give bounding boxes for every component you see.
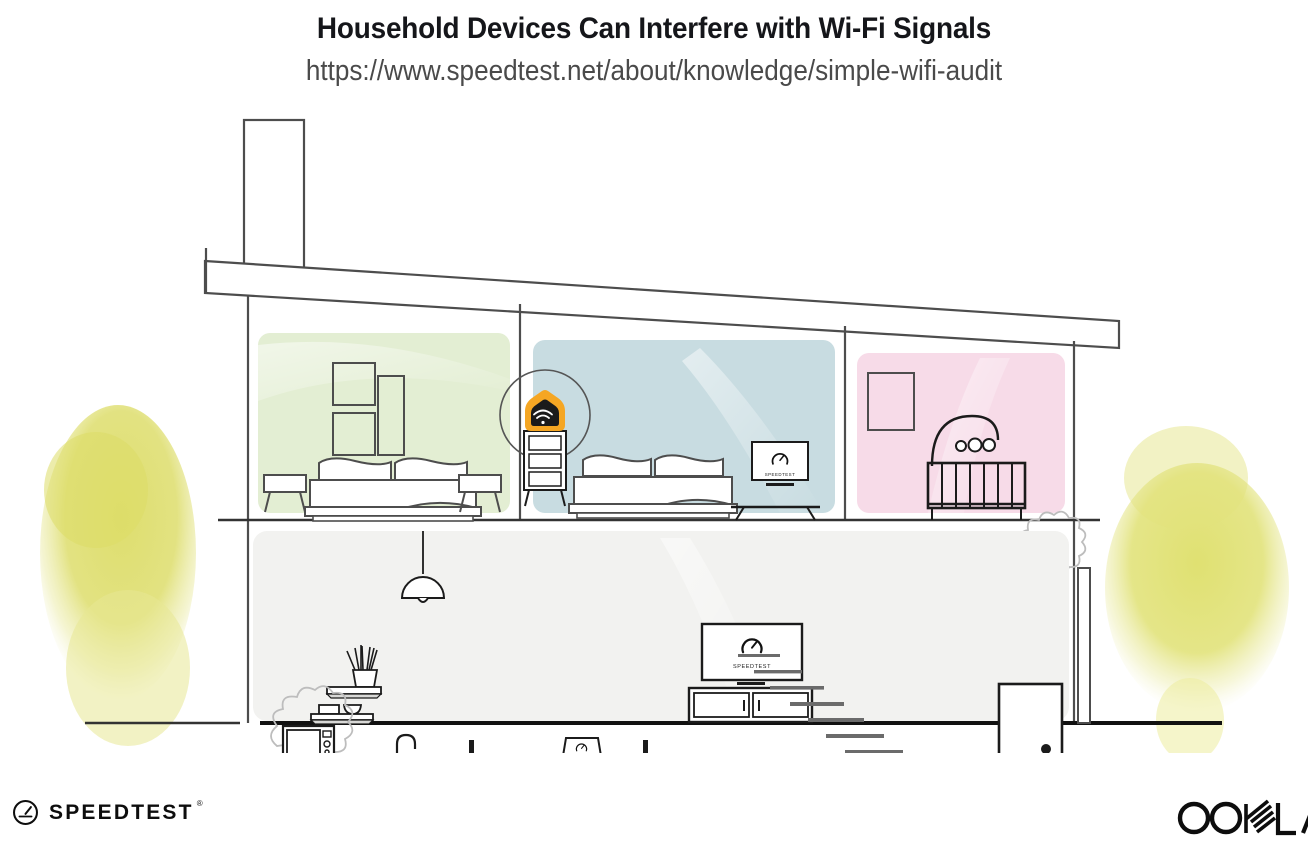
footer: SPEEDTEST ® ® [0, 785, 1308, 861]
tv-screen-label: SPEEDTEST [733, 664, 771, 670]
house-illustration: SPEEDTEST [0, 108, 1308, 753]
speedtest-wordmark: SPEEDTEST ® [49, 801, 194, 825]
speedtest-gauge-icon [12, 799, 39, 826]
shelf-board-lower [311, 714, 373, 724]
sink-faucet [397, 735, 415, 753]
header: Household Devices Can Interfere with Wi-… [0, 0, 1308, 88]
speedtest-logo: SPEEDTEST ® [12, 799, 194, 826]
speedtest-trademark: ® [197, 799, 203, 808]
chair-left [469, 740, 505, 753]
room-bedroom-left [258, 333, 510, 521]
ookla-wordmark-icon: ® [1172, 795, 1308, 841]
chimney [244, 120, 304, 274]
ookla-logo: ® [1172, 795, 1308, 846]
source-url: https://www.speedtest.net/about/knowledg… [65, 54, 1242, 89]
page-title: Household Devices Can Interfere with Wi-… [46, 10, 1262, 48]
microwave [283, 726, 334, 753]
laptop [552, 738, 612, 753]
chair-right [612, 740, 648, 753]
room-bedroom-middle: SPEEDTEST [500, 340, 835, 520]
monitor: SPEEDTEST [752, 442, 808, 486]
room-downstairs: SPEEDTEST [253, 531, 1069, 753]
monitor-screen-label: SPEEDTEST [765, 472, 796, 477]
foliage-left [40, 405, 196, 746]
foliage-right [1105, 426, 1289, 753]
front-door [999, 684, 1062, 753]
speedtest-wordmark-text: SPEEDTEST [49, 801, 194, 824]
